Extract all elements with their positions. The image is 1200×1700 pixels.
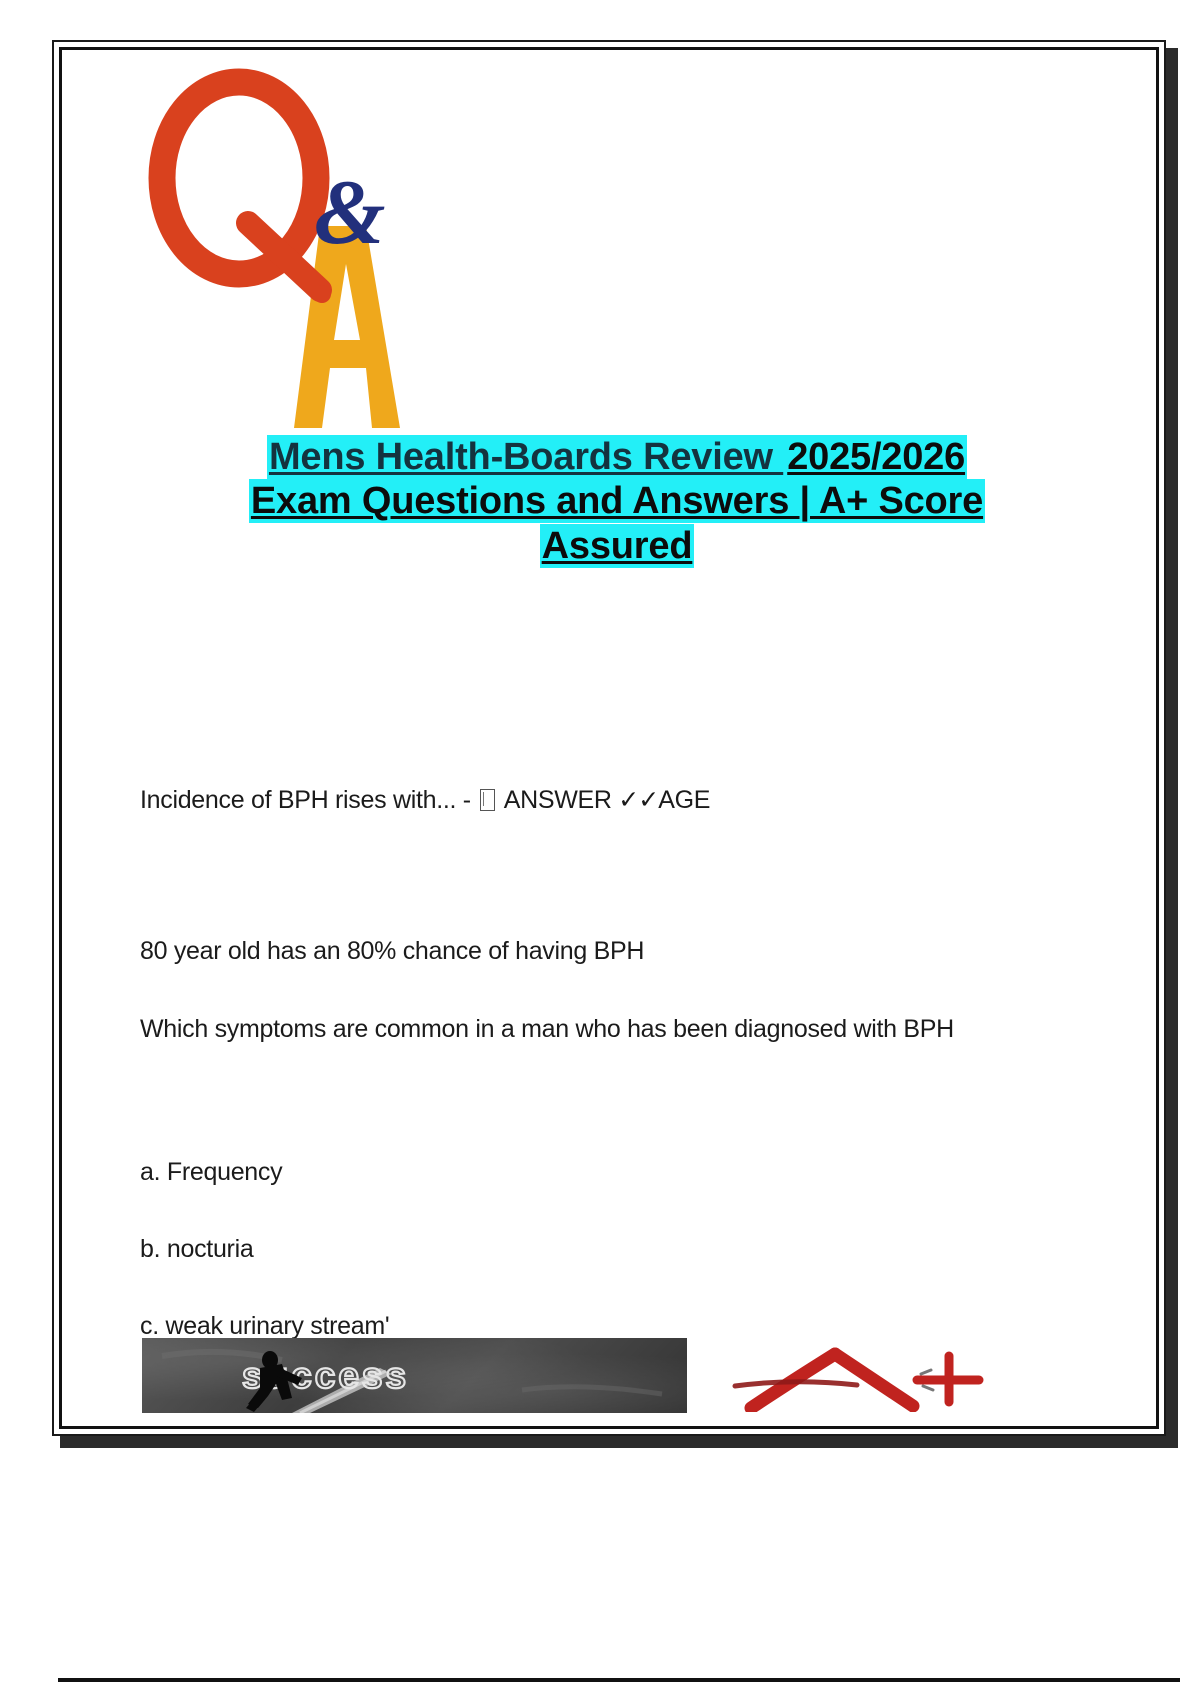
spacer [140, 968, 1070, 1014]
answer-label: ANSWER [498, 786, 618, 814]
question-1-line: Incidence of BPH rises with... - ANSWER … [140, 785, 1070, 816]
spacer [140, 1188, 1070, 1234]
page-content: & Mens Health-Boards Review 2025/2026 Ex… [62, 50, 1156, 1426]
question-1-prompt: Incidence of BPH rises with... - [140, 786, 477, 814]
success-banner-image: success [142, 1338, 687, 1413]
a-plus-grade-icon [717, 1340, 987, 1412]
spacer [140, 1265, 1070, 1311]
title-line-1: Mens Health-Boards Review 2025/2026 [122, 435, 1112, 479]
svg-text:&: & [314, 161, 386, 263]
next-page-separator [58, 1678, 1180, 1682]
qa-logo-icon: & [144, 68, 404, 428]
checkmark-icon: ✓✓ [618, 786, 658, 814]
option-b: b. nocturia [140, 1234, 1070, 1265]
option-a: a. Frequency [140, 1157, 1070, 1188]
title-line-2: Exam Questions and Answers | A+ Score [122, 479, 1112, 523]
question-2-line: Which symptoms are common in a man who h… [140, 1014, 1070, 1045]
document-page: & Mens Health-Boards Review 2025/2026 Ex… [52, 40, 1166, 1436]
document-body: Incidence of BPH rises with... - ANSWER … [140, 785, 1070, 1343]
missing-glyph-icon [480, 789, 495, 811]
fact-line: 80 year old has an 80% chance of having … [140, 936, 1070, 967]
spacer [140, 816, 1070, 936]
title-line-1-part1: Mens Health-Boards Review [267, 435, 785, 479]
title-line-1-year: 2025/2026 [785, 435, 967, 479]
question-1-answer: AGE [658, 786, 710, 814]
spacer [140, 1045, 1070, 1157]
page-title: Mens Health-Boards Review 2025/2026 Exam… [122, 435, 1112, 568]
page-inner-border: & Mens Health-Boards Review 2025/2026 Ex… [59, 47, 1159, 1429]
title-line-3: Assured [122, 524, 1112, 568]
